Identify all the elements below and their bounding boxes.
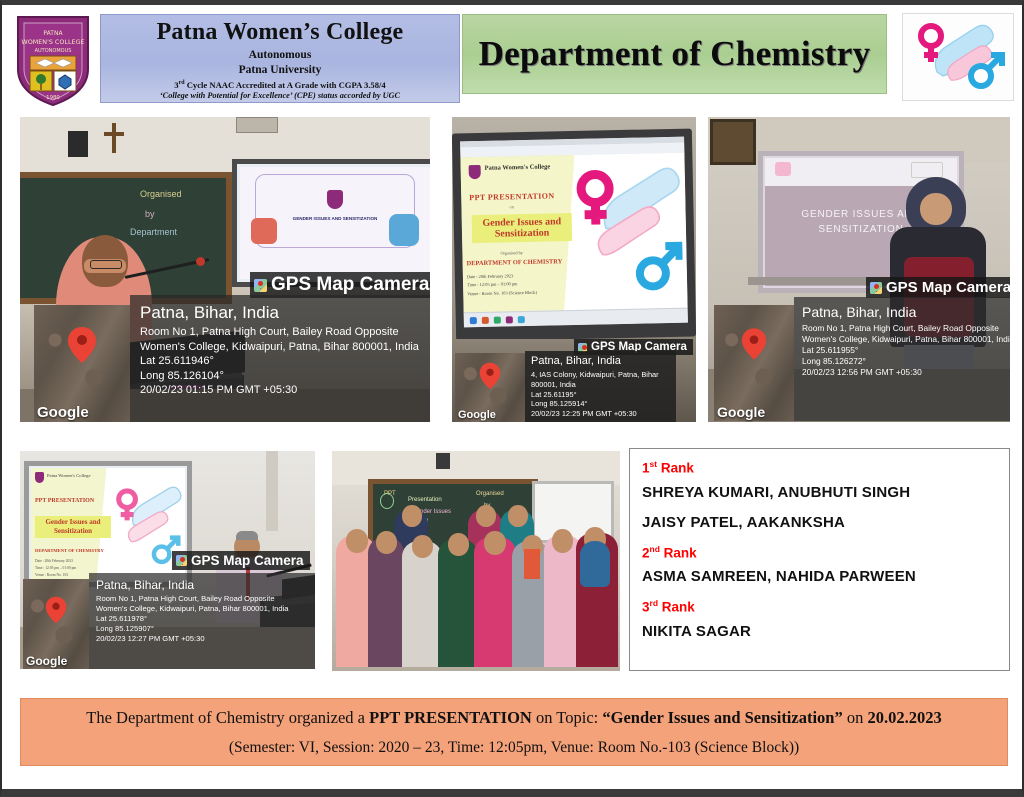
map-watermark: Google	[26, 654, 67, 668]
gps-lat: Lat 25.611978°	[96, 614, 311, 624]
gps-long: Long 85.125914°	[531, 399, 672, 409]
rank-3-names-line-1: NIKITA SAGAR	[642, 623, 1009, 640]
gps-timestamp: 20/02/23 12:56 PM GMT +05:30	[802, 367, 1006, 378]
photo-student-speaker-podium: Organised by Department GENDER ISSUES AN…	[20, 117, 430, 422]
map-pin-icon	[45, 596, 67, 624]
gps-timestamp: 20/02/23 12:27 PM GMT +05:30	[96, 634, 311, 644]
map-pin-icon	[67, 326, 97, 364]
rank-heading-2: 2nd Rank	[642, 544, 1009, 561]
slide-on: on	[509, 204, 514, 209]
gps-address-2: 800001, India	[531, 380, 672, 390]
rank-heading-1: 1st Rank	[642, 459, 1009, 476]
map-pin-icon	[741, 328, 767, 361]
rank-1-names-line-2: JAISY PATEL, AAKANKSHA	[642, 514, 1009, 531]
gps-map-icon	[870, 282, 882, 294]
rank-ordinal-suffix: nd	[650, 544, 660, 554]
gps-long: Long 85.126272°	[802, 356, 1006, 367]
rank-2-names-line-1: ASMA SAMREEN, NAHIDA PARWEEN	[642, 568, 1009, 585]
gps-long: Long 85.126104°	[140, 369, 424, 384]
gps-badge-label: GPS Map Camera	[191, 553, 304, 568]
rank-results-panel: 1st Rank SHREYA KUMARI, ANUBHUTI SINGH J…	[629, 448, 1010, 671]
gps-long: Long 85.125907°	[96, 624, 311, 634]
gps-address-1: 4, IAS Colony, Kidwaipuri, Patna, Bihar	[531, 370, 672, 380]
caption-line-1: The Department of Chemistry organized a …	[86, 708, 941, 728]
college-autonomous: Autonomous	[101, 48, 459, 62]
photo-faculty-speaker-podium: Patna Women's College PPT PRESENTATION G…	[20, 451, 315, 669]
gps-lat: Lat 25.611946°	[140, 354, 424, 369]
map-watermark: Google	[458, 409, 496, 421]
photo-group-participants: PPT Presentation Gender Issues and Organ…	[332, 451, 620, 671]
map-thumbnail: Google	[34, 305, 130, 422]
event-caption-banner: The Department of Chemistry organized a …	[20, 698, 1008, 766]
gps-address-2: Women's College, Kidwaipuri, Patna, Biha…	[140, 340, 424, 355]
slide-row-label: Venue	[467, 291, 478, 296]
gps-badge-label: GPS Map Camera	[271, 274, 429, 296]
map-pin-icon	[479, 362, 501, 390]
slide-row-label: Date	[467, 274, 475, 279]
slide-college: Patna Women's College	[485, 163, 551, 171]
gps-address-2: Women's College, Kidwaipuri, Patna, Biha…	[96, 604, 311, 614]
rank-1-names-line-1: SHREYA KUMARI, ANUBHUTI SINGH	[642, 484, 1009, 501]
slide-row-value: 20th February 2023	[479, 273, 514, 279]
college-name: Patna Women’s College	[101, 20, 459, 45]
map-thumbnail: Google	[23, 579, 89, 669]
college-crest-icon: PATNA WOMEN'S COLLEGE AUTONOMOUS 1980	[12, 11, 94, 107]
gps-info-overlay: Patna, Bihar, India 4, IAS Colony, Kidwa…	[525, 351, 676, 422]
gps-timestamp: 20/02/23 01:15 PM GMT +05:30	[140, 383, 424, 398]
svg-text:PATNA: PATNA	[43, 30, 63, 37]
gps-place: Patna, Bihar, India	[531, 355, 672, 368]
gps-address-1: Room No 1, Patna High Court, Bailey Road…	[140, 325, 424, 340]
gps-info-overlay: Patna, Bihar, India Room No 1, Patna Hig…	[89, 573, 315, 669]
slide-row-label: Time	[467, 282, 476, 287]
gps-lat: Lat 25.61195°	[531, 390, 672, 400]
gps-place: Patna, Bihar, India	[96, 578, 311, 592]
gps-info-overlay: Patna, Bihar, India Room No 1, Patna Hig…	[130, 295, 430, 422]
event-report-page: PATNA WOMEN'S COLLEGE AUTONOMOUS 1980 Pa…	[0, 0, 1024, 797]
gps-map-icon	[176, 555, 187, 566]
department-title-banner: Department of Chemistry	[462, 14, 887, 94]
svg-text:AUTONOMOUS: AUTONOMOUS	[35, 48, 72, 54]
gps-map-camera-badge: GPS Map Camera	[866, 277, 1010, 298]
slide-organised-by: Organised by	[500, 250, 522, 255]
map-watermark: Google	[717, 404, 765, 420]
slide-row-value: Room No. 103 (Science Block)	[482, 290, 537, 296]
slide-title-2: Sensitization	[474, 227, 570, 240]
gps-address-1: Room No 1, Patna High Court, Bailey Road…	[802, 323, 1006, 334]
gps-address-1: Room No 1, Patna High Court, Bailey Road…	[96, 594, 311, 604]
photo-student-presenter-screen: GENDER ISSUES AND SENSITIZATION BY GPS M…	[708, 117, 1010, 422]
gender-equality-logo-icon	[902, 13, 1014, 101]
gps-badge-label: GPS Map Camera	[886, 279, 1010, 296]
caption-line-2: (Semester: VI, Session: 2020 – 23, Time:…	[229, 739, 799, 757]
map-thumbnail: Google	[455, 353, 525, 422]
college-title-banner: Patna Women’s College Autonomous Patna U…	[100, 14, 460, 103]
gps-lat: Lat 25.611955°	[802, 345, 1006, 356]
gps-place: Patna, Bihar, India	[140, 303, 424, 323]
map-watermark: Google	[37, 404, 89, 421]
rank-heading-3: 3rd Rank	[642, 598, 1009, 615]
svg-text:WOMEN'S COLLEGE: WOMEN'S COLLEGE	[21, 38, 84, 46]
gps-place: Patna, Bihar, India	[802, 304, 1006, 321]
slide-title: Gender Issues and Sensitization	[36, 518, 110, 536]
gps-address-2: Women's College, Kidwaipuri, Patna, Biha…	[802, 334, 1006, 345]
photo-presentation-slide-screen: Patna Women's College PPT PRESENTATION o…	[452, 117, 696, 422]
department-title: Department of Chemistry	[479, 34, 871, 74]
gps-map-icon	[254, 279, 267, 292]
slide-kicker: PPT PRESENTATION	[469, 191, 554, 202]
gps-map-camera-badge: GPS Map Camera	[172, 551, 310, 570]
rank-ordinal-suffix: rd	[650, 598, 659, 608]
college-university: Patna University	[101, 63, 459, 77]
slide-row-value: 12:05 pm – 01:00 pm	[480, 282, 518, 288]
gps-info-overlay: Patna, Bihar, India Room No 1, Patna Hig…	[794, 297, 1010, 421]
svg-text:1980: 1980	[46, 95, 60, 101]
gps-timestamp: 20/02/23 12:25 PM GMT +05:30	[531, 409, 672, 419]
college-naac-line: 3rd Cycle NAAC Accredited at A Grade wit…	[101, 80, 459, 91]
rank-ordinal-suffix: st	[650, 459, 658, 469]
map-thumbnail: Google	[714, 305, 794, 421]
college-cpe-line: ‘College with Potential for Excellence’ …	[101, 91, 459, 102]
page-header: PATNA WOMEN'S COLLEGE AUTONOMOUS 1980 Pa…	[2, 5, 1024, 109]
